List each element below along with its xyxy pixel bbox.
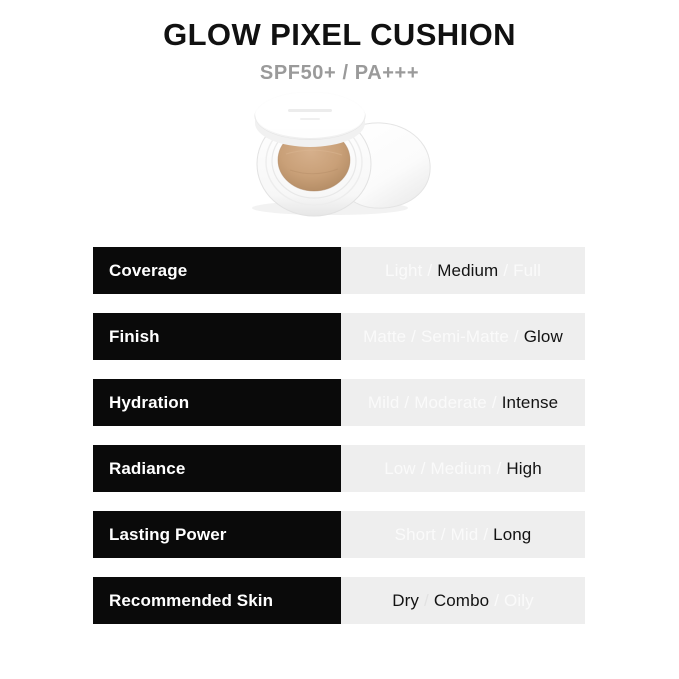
- product-image: [0, 92, 679, 232]
- spec-label-lasting-power: Lasting Power: [93, 511, 341, 558]
- option-separator: /: [487, 393, 502, 413]
- spec-values-recommended-skin: Dry / Combo / Oily: [341, 577, 585, 624]
- option-separator: /: [489, 591, 504, 611]
- spec-option: Mild: [368, 393, 400, 413]
- spec-label-finish: Finish: [93, 313, 341, 360]
- spec-option: Matte: [363, 327, 406, 347]
- spec-values-lasting-power: Short / Mid / Long: [341, 511, 585, 558]
- spec-option: Semi-Matte: [421, 327, 509, 347]
- option-separator: /: [498, 261, 513, 281]
- spec-option-active: Combo: [434, 591, 489, 611]
- spec-label-text: Finish: [109, 327, 160, 347]
- spec-values-finish: Matte / Semi-Matte / Glow: [341, 313, 585, 360]
- spec-values-coverage: Light / Medium / Full: [341, 247, 585, 294]
- option-separator: /: [478, 525, 493, 545]
- table-row: Hydration Mild / Moderate / Intense: [93, 379, 585, 426]
- spec-values-radiance: Low / Medium / High: [341, 445, 585, 492]
- spec-option-active: Glow: [524, 327, 563, 347]
- spec-label-text: Coverage: [109, 261, 187, 281]
- header: GLOW PIXEL CUSHION SPF50+ / PA+++: [0, 0, 679, 84]
- option-separator: /: [509, 327, 524, 347]
- spec-label-hydration: Hydration: [93, 379, 341, 426]
- spec-option: Short: [395, 525, 436, 545]
- spec-option-active: Dry: [392, 591, 419, 611]
- table-row: Lasting Power Short / Mid / Long: [93, 511, 585, 558]
- option-separator: /: [416, 459, 431, 479]
- table-row: Coverage Light / Medium / Full: [93, 247, 585, 294]
- spec-label-coverage: Coverage: [93, 247, 341, 294]
- spec-option: Oily: [504, 591, 534, 611]
- spec-option: Mid: [451, 525, 479, 545]
- spec-option: Medium: [431, 459, 492, 479]
- spec-label-text: Recommended Skin: [109, 591, 273, 611]
- spec-label-text: Radiance: [109, 459, 185, 479]
- cushion-compact-icon: [0, 92, 679, 232]
- spec-option-active: Intense: [502, 393, 558, 413]
- spec-values-hydration: Mild / Moderate / Intense: [341, 379, 585, 426]
- option-separator: /: [422, 261, 437, 281]
- spec-option: Moderate: [414, 393, 487, 413]
- spec-option: Low: [384, 459, 416, 479]
- spec-option-active: High: [506, 459, 541, 479]
- option-separator: /: [406, 327, 421, 347]
- spec-option-active: Long: [493, 525, 531, 545]
- page-title: GLOW PIXEL CUSHION: [0, 18, 679, 52]
- spec-option-active: Medium: [437, 261, 498, 281]
- table-row: Radiance Low / Medium / High: [93, 445, 585, 492]
- product-spec-infographic: GLOW PIXEL CUSHION SPF50+ / PA+++: [0, 0, 679, 679]
- spec-label-text: Lasting Power: [109, 525, 227, 545]
- option-separator: /: [492, 459, 507, 479]
- spec-option: Full: [513, 261, 541, 281]
- product-subtitle: SPF50+ / PA+++: [0, 62, 679, 84]
- option-separator: /: [436, 525, 451, 545]
- spec-label-recommended-skin: Recommended Skin: [93, 577, 341, 624]
- spec-option: Light: [385, 261, 422, 281]
- spec-table: Coverage Light / Medium / Full Finish Ma…: [93, 247, 585, 624]
- spec-label-text: Hydration: [109, 393, 189, 413]
- table-row: Finish Matte / Semi-Matte / Glow: [93, 313, 585, 360]
- table-row: Recommended Skin Dry / Combo / Oily: [93, 577, 585, 624]
- spec-label-radiance: Radiance: [93, 445, 341, 492]
- option-separator: /: [399, 393, 414, 413]
- option-separator: /: [419, 591, 434, 611]
